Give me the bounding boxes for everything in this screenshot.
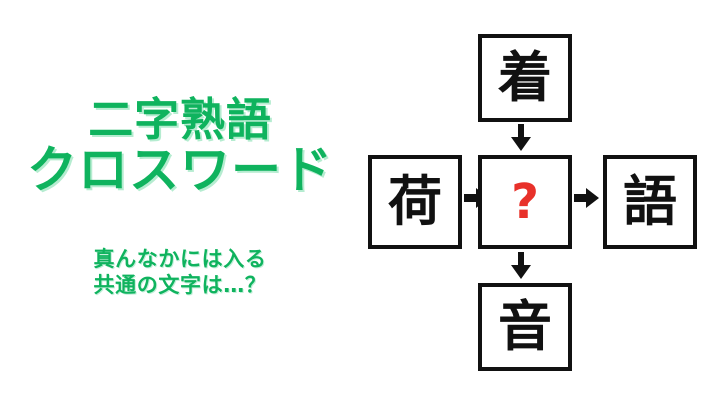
kanji-glyph-bottom: 音	[498, 300, 552, 354]
kanji-glyph-left: 荷	[388, 175, 442, 229]
subtitle-line-2: 共通の文字は…？	[0, 273, 360, 299]
kanji-glyph-right: 語	[623, 175, 677, 229]
kanji-cell-bottom: 音	[478, 283, 572, 371]
crossword-diagram: 着 荷 ? 語	[360, 0, 720, 405]
puzzle-slide: 二字熟語 クロスワード 真んなかには入る 共通の文字は…？ 着 荷 ?	[0, 0, 720, 405]
kanji-glyph-top: 着	[498, 51, 552, 105]
arrow-down-from-top-icon	[509, 124, 533, 152]
subtitle-line-1: 真んなかには入る	[0, 247, 360, 273]
kanji-cell-top: 着	[478, 34, 572, 122]
kanji-cell-right: 語	[603, 155, 697, 249]
title-block: 二字熟語 クロスワード	[0, 96, 360, 197]
arrow-down-to-bottom-icon	[509, 252, 533, 280]
page-title-line-1: 二字熟語	[0, 96, 360, 144]
kanji-glyph-center-question: ?	[511, 178, 539, 226]
kanji-cell-left: 荷	[368, 155, 462, 249]
page-title-line-2: クロスワード	[0, 144, 360, 197]
subtitle-block: 真んなかには入る 共通の文字は…？	[0, 247, 360, 298]
kanji-cell-center-unknown: ?	[478, 155, 572, 249]
arrow-right-to-right-icon	[574, 187, 600, 209]
